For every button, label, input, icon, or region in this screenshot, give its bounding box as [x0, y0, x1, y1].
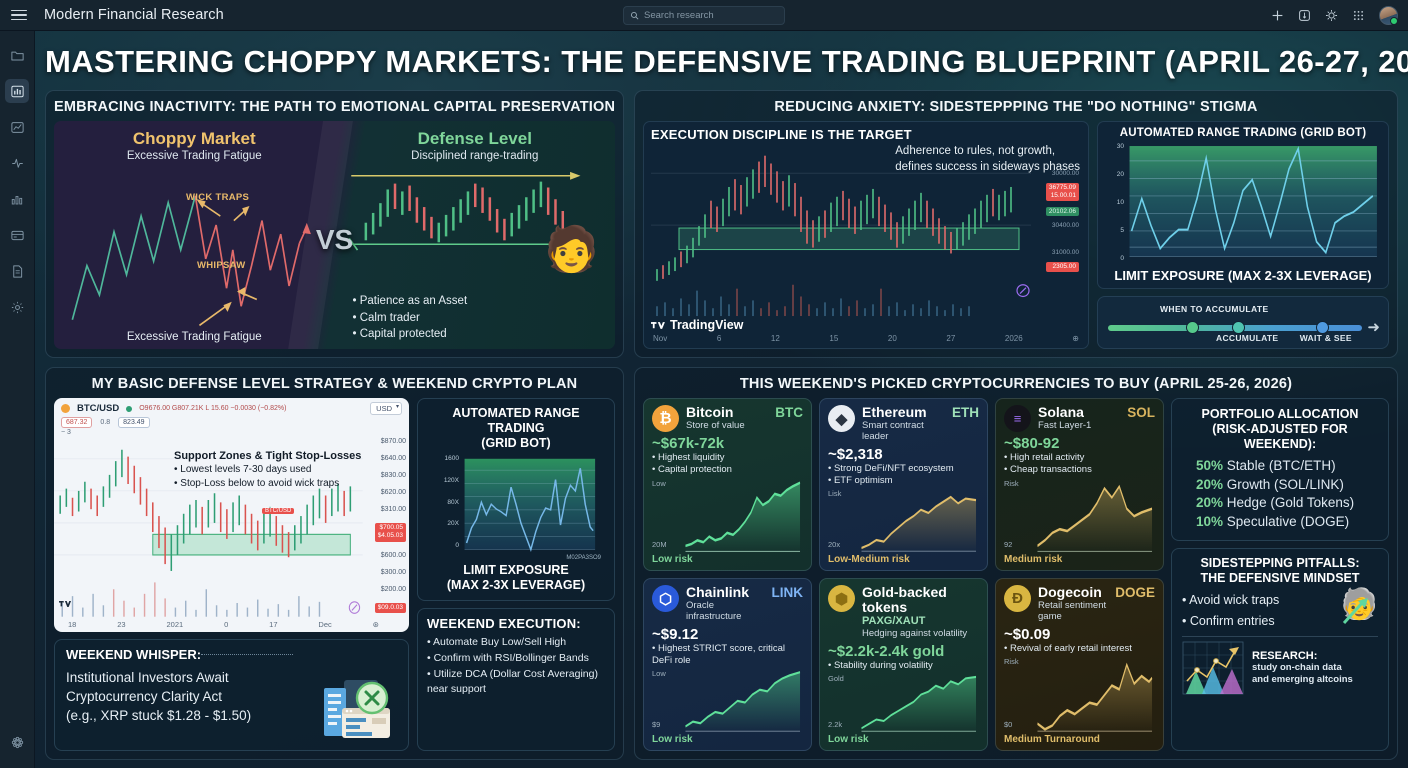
choppy-side: Choppy Market Excessive Trading Fatigue: [54, 121, 335, 349]
target-icon[interactable]: [1325, 9, 1338, 22]
coin-price: ~$0.09: [1004, 626, 1155, 643]
btc-tag-small: − 3: [54, 428, 409, 436]
pitfalls-title-line2: THE DEFENSIVE MINDSET: [1182, 571, 1378, 586]
coin-sparkline: Gold 2.2k: [828, 674, 979, 733]
coin-name: Solana: [1038, 405, 1091, 420]
tv-price-axis: 30000.00 36775.09 15.00.01 20102.06 3040…: [1046, 146, 1079, 272]
coin-bullet: Strong DeFi/NFT ecosystem: [828, 463, 979, 475]
choppy-footer: Excessive Trading Fatigue: [64, 331, 325, 343]
tv-y-label: 31000.00: [1046, 249, 1079, 256]
btc-y-label: $640.00: [375, 455, 406, 462]
solana-logo-icon: ≡: [1004, 405, 1031, 432]
coin-bullet: Cheap transactions: [1004, 464, 1155, 476]
btc-symbol: BTC/USD: [77, 403, 119, 414]
btc-x-label: 2021: [167, 620, 184, 629]
research-row: RESEARCH: study on-chain data and emergi…: [1182, 641, 1378, 695]
gridbot-footer: LIMIT EXPOSURE (MAX 2-3X LEVERAGE): [1105, 268, 1381, 283]
settings-gear-icon: [10, 735, 25, 750]
execution-bullets: Automate Buy Low/Sell High Confirm with …: [427, 635, 605, 698]
whisper-line1: Institutional Investors Await: [66, 669, 321, 688]
spark-bottom-label: 20x: [828, 540, 840, 549]
whisper-line3: (e.g., XRP stuck $1.28 - $1.50): [66, 707, 321, 726]
coin-sparkline: Low $9: [652, 669, 803, 733]
gridbot-title-line1: AUTOMATED RANGE TRADING: [427, 406, 605, 436]
tv-y-label: 30400.00: [1046, 222, 1079, 229]
coin-name: Bitcoin: [686, 405, 745, 420]
btc-series-pill: BTC/USD: [262, 508, 294, 514]
research-line1: study on-chain data: [1252, 662, 1353, 674]
search-box[interactable]: [623, 6, 785, 25]
execution-bullet: Utilize DCA (Dollar Cost Averaging) near…: [427, 667, 605, 699]
coin-header: ≡ Solana Fast Layer-1 SOL: [1004, 405, 1155, 432]
btc-y-label: $620.00: [375, 489, 406, 496]
sidebar-item-histogram[interactable]: [5, 187, 29, 211]
coin-bullets: Highest liquidity Capital protection: [652, 452, 803, 477]
btc-x-axis: 18 23 2021 0 17 Dec ⊛: [54, 619, 409, 632]
coin-price: ~$80-92: [1004, 435, 1155, 452]
spark-top-label: Lisk: [828, 489, 841, 498]
divider: [1182, 636, 1378, 637]
strategy-gridbot-chart: 1600 120X 80X 20X 0 M02PA3SO9: [427, 455, 605, 561]
gridbot-title: AUTOMATED RANGE TRADING (GRID BOT): [1105, 127, 1381, 139]
allocation-pct: 20%: [1196, 495, 1223, 510]
panel-weekend-picks: THIS WEEKEND'S PICKED CRYPTOCURRENCIES T…: [634, 367, 1398, 760]
gb2-y-tick: 0: [427, 542, 459, 549]
execution-bullet: Automate Buy Low/Sell High: [427, 635, 605, 651]
btc-note-title: Support Zones & Tight Stop-Losses: [174, 450, 361, 462]
allocation-pct: 50%: [1196, 458, 1223, 473]
btc-chart-card[interactable]: BTC/USD O9676.00 G807.21K L 15.60 −0.003…: [54, 398, 409, 632]
research-title: RESEARCH:: [1252, 650, 1353, 662]
choppy-vs-defense: Choppy Market Excessive Trading Fatigue: [54, 121, 615, 349]
slider-label: WHEN TO ACCUMULATE: [1160, 304, 1378, 314]
allocation-label: Stable (BTC/ETH): [1227, 458, 1336, 473]
coin-risk: Low-Medium risk: [828, 554, 979, 565]
coin-bullets: Strong DeFi/NFT ecosystem ETF optimism: [828, 463, 979, 488]
btc-note-bullet: Lowest levels 7-30 days used: [174, 463, 361, 477]
pitfalls-title-line1: SIDESTEPPING PITFALLS:: [1182, 556, 1378, 571]
coin-sparkline: Low 20M: [652, 479, 803, 553]
gridbot-y-tick: 10: [1105, 199, 1124, 206]
status-dot-icon: [126, 406, 132, 412]
btc-tag: 823.49: [118, 417, 149, 428]
allocation-list: 50% Stable (BTC/ETH) 20% Growth (SOL/LIN…: [1182, 457, 1378, 532]
coin-ticker: SOL: [1127, 405, 1155, 420]
strategy-gridbot-title: AUTOMATED RANGE TRADING (GRID BOT): [427, 406, 605, 451]
whisper-dotted-line: [201, 654, 293, 655]
defense-side: Defense Level Disciplined range-trading: [335, 121, 616, 349]
btc-tags: 687.32 0.8 823.49: [54, 415, 409, 428]
coin-desc: Fast Layer-1: [1038, 421, 1091, 432]
btc-ohlc: O9676.00 G807.21K L 15.60 −0.0030 (−0.82…: [139, 405, 286, 412]
gold-token-logo-icon: ⬢: [828, 585, 855, 612]
coin-sparkline: Lisk 20x: [828, 489, 979, 553]
crypto-card-dogecoin[interactable]: Ð Dogecoin Retail sentiment game DOGE ~$…: [995, 578, 1164, 751]
sidestepping-pitfalls-card: SIDESTEPPING PITFALLS: THE DEFENSIVE MIN…: [1171, 548, 1389, 752]
tradingview-logo-icon: [651, 320, 666, 331]
gb2-y-tick: 20X: [427, 520, 459, 527]
sidebar: [0, 31, 35, 768]
crypto-card-chainlink[interactable]: ⬡ Chainlink Oracle infrastructure LINK ~…: [643, 578, 812, 751]
coin-desc: Store of value: [686, 421, 745, 432]
btc-y-label: $300.00: [375, 569, 406, 576]
infographic-canvas: MASTERING CHOPPY MARKETS: THE DEFENSIVE …: [35, 31, 1408, 768]
dogecoin-logo-icon: Ð: [1004, 585, 1031, 612]
coin-bullets: Highest STRICT score, critical DeFi role: [652, 643, 803, 668]
line-chart-icon: [10, 120, 25, 135]
plus-icon[interactable]: [1271, 9, 1284, 22]
coin-sparkline: Risk $0: [1004, 657, 1155, 733]
btc-note: Support Zones & Tight Stop-Losses Lowest…: [174, 450, 361, 490]
coin-desc: Smart contract leader: [862, 421, 945, 443]
sidebar-item-cards[interactable]: [5, 223, 29, 247]
defense-subtitle: Disciplined range-trading: [345, 150, 606, 162]
choppy-title: Choppy Market: [64, 129, 325, 149]
defense-bullets: Patience as an Asset Calm trader Capital…: [345, 293, 606, 343]
choppy-subtitle: Excessive Trading Fatigue: [64, 150, 325, 162]
weekend-execution-card: WEEKEND EXECUTION: Automate Buy Low/Sell…: [417, 608, 615, 751]
crypto-grid: ₿ Bitcoin Store of value BTC ~$67k-72k H…: [643, 398, 1389, 751]
bottom-row: MY BASIC DEFENSE LEVEL STRATEGY & WEEKEN…: [45, 367, 1398, 760]
search-input[interactable]: [644, 10, 778, 21]
gridbot-y-tick: 30: [1105, 143, 1124, 150]
slider-caption-wait: WAIT & SEE: [1300, 333, 1352, 343]
tv-x-label: 27: [946, 334, 955, 343]
spark-top-label: Gold: [828, 674, 844, 683]
ethereum-logo-icon: ◆: [828, 405, 855, 432]
allocation-label: Hedge (Gold Tokens): [1227, 495, 1354, 510]
tv-settings-icon[interactable]: ⊕: [1072, 334, 1079, 343]
choppy-zigzag-chart: [64, 162, 325, 331]
research-text: RESEARCH: study on-chain data and emergi…: [1252, 650, 1353, 686]
gridbot-title-line2: (GRID BOT): [427, 436, 605, 451]
document-review-icon: [316, 668, 394, 742]
tradingview-card[interactable]: EXECUTION DISCIPLINE IS THE TARGET Adher…: [643, 121, 1089, 349]
coin-name: Chainlink: [686, 585, 765, 600]
coin-ticker: LINK: [772, 585, 804, 600]
btc-x-label: Dec: [318, 620, 331, 629]
spark-bottom-label: $0: [1004, 720, 1012, 729]
btc-tag: 0.8: [96, 418, 114, 427]
pulse-icon: [10, 156, 25, 171]
gb2-footer-line2: (MAX 2-3X LEVERAGE): [427, 578, 605, 593]
spark-bottom-label: 2.2k: [828, 720, 842, 729]
sidebar-item-folder[interactable]: [5, 43, 29, 67]
allocation-pct: 10%: [1196, 514, 1223, 529]
btc-y-label: $830.00: [375, 472, 406, 479]
tv-x-label: 2026: [1005, 334, 1023, 343]
coin-risk: Low risk: [652, 734, 803, 745]
btc-x-label: 23: [117, 620, 125, 629]
sidebar-item-documents[interactable]: [5, 259, 29, 283]
strategy-gridbot-card: AUTOMATED RANGE TRADING (GRID BOT): [417, 398, 615, 601]
btc-price-pill: $700.05 $4.05.03: [375, 523, 406, 541]
btc-chart-header: BTC/USD O9676.00 G807.21K L 15.60 −0.003…: [54, 398, 409, 415]
coin-name: Gold-backed tokens: [862, 585, 979, 614]
defense-bullet: Calm trader: [353, 310, 606, 327]
coin-risk: Medium Turnaround: [1004, 734, 1155, 745]
coin-subticker: PAXG/XAUT: [862, 615, 979, 628]
defense-bullet: Capital protected: [353, 326, 606, 343]
top-row: EMBRACING INACTIVITY: THE PATH TO EMOTIO…: [45, 90, 1398, 358]
gb2-y-tick: 1600: [427, 455, 459, 462]
coin-ticker: ETH: [952, 405, 979, 420]
allocation-item: 20% Hedge (Gold Tokens): [1196, 494, 1378, 513]
gridbot-y-tick: 0: [1105, 255, 1124, 262]
note-icon[interactable]: [1298, 9, 1311, 22]
spark-top-label: Risk: [1004, 479, 1019, 488]
coin-bullet: Stability during volatility: [828, 660, 979, 672]
search-icon: [630, 11, 639, 20]
sidebar-item-analytics[interactable]: [5, 79, 29, 103]
weekend-whisper-card: WEEKEND WHISPER: Institutional Investors…: [54, 639, 409, 751]
tv-volume-pill: 2305.00: [1046, 262, 1079, 272]
coin-bullet: Highest liquidity: [652, 452, 803, 464]
gridbot-line-chart: 30 20 10 5 0: [1105, 142, 1381, 266]
coin-header: ⬡ Chainlink Oracle infrastructure LINK: [652, 585, 803, 623]
coin-ticker: BTC: [775, 405, 803, 420]
tv-x-label: 12: [771, 334, 780, 343]
coin-desc: Hedging against volatility: [862, 629, 979, 640]
gridbot-y-tick: 5: [1105, 227, 1124, 234]
btc-chart-settings-icon[interactable]: ⊛: [373, 620, 379, 629]
tv-x-label: 20: [888, 334, 897, 343]
slider-arrow-icon: ➜: [1367, 321, 1380, 334]
panel-heading: MY BASIC DEFENSE LEVEL STRATEGY & WEEKEN…: [54, 373, 615, 398]
sidebar-item-trends[interactable]: [5, 115, 29, 139]
btc-chart-body: Support Zones & Tight Stop-Losses Lowest…: [54, 436, 409, 619]
gridbot-card: AUTOMATED RANGE TRADING (GRID BOT): [1097, 121, 1389, 289]
coin-price: ~$2.2k-2.4k gold: [828, 643, 979, 660]
card-icon: [10, 228, 25, 243]
execution-bullet: Confirm with RSI/Bollinger Bands: [427, 651, 605, 667]
sidebar-item-pulse[interactable]: [5, 151, 29, 175]
gridbot-y-axis: 30 20 10 5 0: [1105, 142, 1127, 266]
gb2-y-tick: 80X: [427, 499, 459, 506]
spark-bottom-label: 20M: [652, 540, 667, 549]
tv-x-axis: Nov 6 12 15 20 27 2026 ⊕: [651, 332, 1081, 343]
tv-x-label: 15: [829, 334, 838, 343]
coin-price: ~$9.12: [652, 626, 803, 643]
btc-x-label: 0: [224, 620, 228, 629]
tv-card-title: EXECUTION DISCIPLINE IS THE TARGET: [651, 127, 1081, 142]
allocation-pct: 20%: [1196, 477, 1223, 492]
btc-tag: 687.32: [61, 417, 92, 428]
pitfalls-title: SIDESTEPPING PITFALLS: THE DEFENSIVE MIN…: [1182, 556, 1378, 586]
calm-trader-emoji: 🧑: [544, 228, 599, 272]
vs-badge: VS: [316, 224, 353, 256]
allocation-item: 20% Growth (SOL/LINK): [1196, 476, 1378, 495]
strategy-gridbot-y-axis: 1600 120X 80X 20X 0: [427, 455, 463, 549]
allocation-item: 50% Stable (BTC/ETH): [1196, 457, 1378, 476]
btc-x-label: 17: [269, 620, 277, 629]
app-shell: MASTERING CHOPPY MARKETS: THE DEFENSIVE …: [0, 31, 1408, 768]
coin-header: Ð Dogecoin Retail sentiment game DOGE: [1004, 585, 1155, 623]
coin-name: Dogecoin: [1038, 585, 1108, 600]
coin-header: ⬢ Gold-backed tokens PAXG/XAUT Hedging a…: [828, 585, 979, 640]
tv-green-pill: 20102.06: [1046, 207, 1079, 216]
coin-bullets: High retail activity Cheap transactions: [1004, 452, 1155, 477]
coin-desc: Retail sentiment game: [1038, 601, 1108, 623]
page-title: MASTERING CHOPPY MARKETS: THE DEFENSIVE …: [45, 37, 1398, 90]
spark-bottom-label: 92: [1004, 540, 1012, 549]
btc-note-bullet: Stop-Loss below to avoid wick traps: [174, 477, 361, 491]
folder-icon: [10, 48, 25, 63]
btc-x-label: 18: [68, 620, 76, 629]
btc-y-label: $200.00: [375, 586, 406, 593]
app-title: Modern Financial Research: [44, 7, 224, 23]
top-bar: Modern Financial Research: [0, 0, 1408, 31]
menu-icon[interactable]: [8, 4, 30, 26]
panel-heading: THIS WEEKEND'S PICKED CRYPTOCURRENCIES T…: [643, 373, 1389, 398]
coin-header: ◆ Ethereum Smart contract leader ETH: [828, 405, 979, 443]
coin-risk: Low risk: [828, 734, 979, 745]
tradingview-brand-label: TradingView: [670, 318, 743, 332]
panel-heading: REDUCING ANXIETY: SIDESTEPPPING THE "DO …: [643, 96, 1389, 121]
picks-side-column: PORTFOLIO ALLOCATION (RISK-ADJUSTED FOR …: [1171, 398, 1389, 751]
btc-y-axis: $870.00 $640.00 $830.00 $620.00 $310.00 …: [375, 436, 406, 619]
bitcoin-dot-icon: [61, 404, 70, 413]
btc-y-label: $870.00: [375, 438, 406, 445]
allocation-title-line2: (RISK-ADJUSTED FOR WEEKEND):: [1182, 422, 1378, 452]
grid-apps-icon[interactable]: [1352, 9, 1365, 22]
coin-bullet: High retail activity: [1004, 452, 1155, 464]
coin-bullet: Highest STRICT score, critical DeFi role: [652, 643, 803, 668]
crypto-card-bitcoin[interactable]: ₿ Bitcoin Store of value BTC ~$67k-72k H…: [643, 398, 812, 571]
whisper-text: Institutional Investors Await Cryptocurr…: [66, 669, 321, 726]
slider-knob-accumulate-top[interactable]: [1186, 321, 1199, 334]
whisper-line2: Cryptocurrency Clarity Act: [66, 688, 321, 707]
wick-traps-label: WICK TRAPS: [186, 192, 249, 203]
slider-track[interactable]: ➜ ACCUMULATE WAIT & SEE: [1108, 317, 1378, 339]
portfolio-allocation-card: PORTFOLIO ALLOCATION (RISK-ADJUSTED FOR …: [1171, 398, 1389, 541]
crypto-card-gold-tokens[interactable]: ⬢ Gold-backed tokens PAXG/XAUT Hedging a…: [819, 578, 988, 751]
btc-y-label: $600.00: [375, 552, 406, 559]
panel-reducing-anxiety: REDUCING ANXIETY: SIDESTEPPPING THE "DO …: [634, 90, 1398, 358]
coin-bullets: Revival of early retail interest: [1004, 643, 1155, 655]
chainlink-logo-icon: ⬡: [652, 585, 679, 612]
coin-risk: Medium risk: [1004, 554, 1155, 565]
strategy-gridbot-footer: LIMIT EXPOSURE (MAX 2-3X LEVERAGE): [427, 563, 605, 593]
sidebar-item-preferences[interactable]: [5, 730, 29, 754]
top-icon-group: [1271, 6, 1398, 25]
tv-y-label: 30000.00: [1046, 170, 1079, 177]
research-chart-icon: [1182, 641, 1244, 695]
coin-name: Ethereum: [862, 405, 945, 420]
panel-defense-strategy: MY BASIC DEFENSE LEVEL STRATEGY & WEEKEN…: [45, 367, 624, 760]
tradingview-mini-logo-icon: [59, 596, 72, 614]
bitcoin-logo-icon: ₿: [652, 405, 679, 432]
tradingview-brand: TradingView: [651, 318, 1081, 332]
settings-icon: [10, 300, 25, 315]
spark-top-label: Low: [652, 669, 666, 678]
tv-x-label: Nov: [653, 334, 667, 343]
coin-ticker: DOGE: [1115, 585, 1155, 600]
btc-bottom-pill: $09.0.03: [375, 603, 406, 613]
coin-price: ~$2,318: [828, 446, 979, 463]
slider-caption-accumulate: ACCUMULATE: [1216, 333, 1278, 343]
btc-y-label: $310.00: [375, 506, 406, 513]
tv-candlestick-chart[interactable]: 30000.00 36775.09 15.00.01 20102.06 3040…: [651, 142, 1081, 318]
allocation-label: Growth (SOL/LINK): [1227, 477, 1344, 492]
document-icon: [10, 264, 25, 279]
coin-sparkline: Risk 92: [1004, 479, 1155, 553]
gb2-y-tick: 120X: [427, 477, 459, 484]
coin-bullets: Stability during volatility: [828, 660, 979, 672]
gridbot-y-tick: 20: [1105, 171, 1124, 178]
coin-bullet: Revival of early retail interest: [1004, 643, 1155, 655]
coin-price: ~$67k-72k: [652, 435, 803, 452]
avatar[interactable]: [1379, 6, 1398, 25]
growth-arrow-icon: [1338, 593, 1374, 629]
crypto-card-grid: ₿ Bitcoin Store of value BTC ~$67k-72k H…: [643, 398, 1164, 751]
histogram-icon: [10, 192, 25, 207]
btc-note-bullets: Lowest levels 7-30 days used Stop-Loss b…: [174, 463, 361, 490]
allocation-title: PORTFOLIO ALLOCATION (RISK-ADJUSTED FOR …: [1182, 407, 1378, 452]
accumulate-slider-card[interactable]: WHEN TO ACCUMULATE ➜ ACCUMULATE WAIT & S…: [1097, 296, 1389, 349]
research-line2: and emerging altcoins: [1252, 674, 1353, 686]
bar-chart-icon: [10, 84, 25, 99]
spark-top-label: Low: [652, 479, 666, 488]
crypto-card-solana[interactable]: ≡ Solana Fast Layer-1 SOL ~$80-92 High r…: [995, 398, 1164, 571]
coin-risk: Low risk: [652, 554, 803, 565]
coin-header: ₿ Bitcoin Store of value BTC: [652, 405, 803, 432]
spark-bottom-label: $9: [652, 720, 660, 729]
whipsaw-label: WHIPSAW: [197, 260, 246, 271]
execution-title: WEEKEND EXECUTION:: [427, 616, 605, 631]
sidebar-item-settings[interactable]: [5, 295, 29, 319]
allocation-item: 10% Speculative (DOGE): [1196, 513, 1378, 532]
tv-price-pill: 36775.09 15.00.01: [1046, 183, 1079, 201]
allocation-label: Speculative (DOGE): [1227, 514, 1349, 529]
crypto-card-ethereum[interactable]: ◆ Ethereum Smart contract leader ETH ~$2…: [819, 398, 988, 571]
coin-bullet: ETF optimism: [828, 475, 979, 487]
gb2-x-note: M02PA3SO9: [566, 555, 601, 561]
tv-x-label: 6: [717, 334, 721, 343]
btc-currency-select[interactable]: USD: [370, 402, 402, 415]
allocation-title-line1: PORTFOLIO ALLOCATION: [1182, 407, 1378, 422]
spark-top-label: Risk: [1004, 657, 1019, 666]
defense-bullet: Patience as an Asset: [353, 293, 606, 310]
defense-title: Defense Level: [345, 129, 606, 149]
panel-embracing-inactivity: EMBRACING INACTIVITY: THE PATH TO EMOTIO…: [45, 90, 624, 358]
coin-desc: Oracle infrastructure: [686, 601, 765, 623]
coin-bullet: Capital protection: [652, 464, 803, 476]
panel-heading: EMBRACING INACTIVITY: THE PATH TO EMOTIO…: [54, 96, 615, 121]
gb2-footer-line1: LIMIT EXPOSURE: [427, 563, 605, 578]
